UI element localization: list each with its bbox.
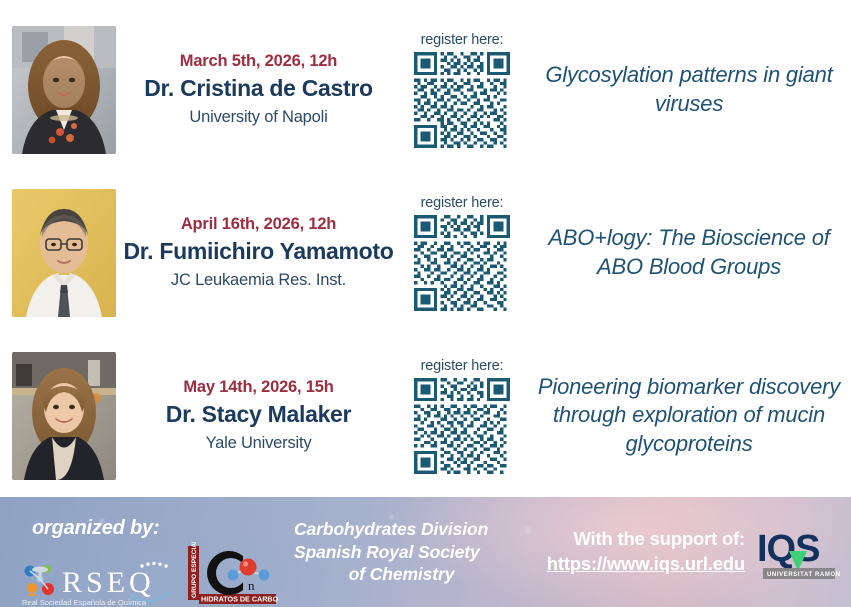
seminar-poster: March 5th, 2026, 12h Dr. Cristina de Cas…: [0, 0, 851, 607]
register-here-label: register here:: [421, 358, 504, 374]
division-line-2: Spanish Royal Society: [286, 541, 501, 563]
speaker-date: May 14th, 2026, 15h: [122, 377, 395, 398]
talk-title: Pioneering biomarker discovery through e…: [523, 373, 851, 459]
svg-text:HIDRATOS DE CARBONO: HIDRATOS DE CARBONO: [201, 595, 278, 604]
organizer-logos: RSEQ Real Sociedad Española de Química G…: [20, 542, 290, 607]
speaker-info: March 5th, 2026, 12h Dr. Cristina de Cas…: [116, 51, 401, 128]
speaker-name: Dr. Cristina de Castro: [122, 75, 395, 102]
speaker-row: March 5th, 2026, 12h Dr. Cristina de Cas…: [0, 8, 851, 171]
speaker-name: Dr. Stacy Malaker: [122, 401, 395, 428]
organizers-section: organized by: RSEQ: [0, 497, 290, 607]
speaker-info: April 16th, 2026, 12h Dr. Fumiichiro Yam…: [116, 214, 401, 291]
speaker-row: May 14th, 2026, 15h Dr. Stacy Malaker Ya…: [0, 334, 851, 497]
division-line-1: Carbohydrates Division: [286, 518, 501, 540]
svg-text:RSEQ: RSEQ: [62, 566, 155, 599]
svg-text:GRUPO ESPECIALIZADO: GRUPO ESPECIALIZADO: [191, 542, 198, 598]
support-label: With the support of:: [573, 528, 745, 549]
carbohydrates-group-logo: GRUPO ESPECIALIZADO HIDRATOS DE CARBONO …: [186, 542, 278, 607]
speaker-row: April 16th, 2026, 12h Dr. Fumiichiro Yam…: [0, 171, 851, 334]
speaker-date: March 5th, 2026, 12h: [122, 51, 395, 72]
organized-by-label: organized by:: [32, 517, 290, 540]
rseq-logo: RSEQ Real Sociedad Española de Química: [20, 558, 180, 607]
iqs-url-link[interactable]: https://www.iqs.url.edu: [547, 552, 745, 577]
speaker-date: April 16th, 2026, 12h: [122, 214, 395, 235]
support-section: With the support of: https://www.iqs.url…: [501, 521, 851, 583]
speaker-info: May 14th, 2026, 15h Dr. Stacy Malaker Ya…: [116, 377, 401, 454]
speaker-affiliation: University of Napoli: [122, 107, 395, 128]
svg-text:Real Sociedad Española de Quím: Real Sociedad Española de Química: [22, 598, 147, 607]
registration-block[interactable]: register here:: [401, 32, 523, 148]
svg-text:UNIVERSITAT RAMON LLULL: UNIVERSITAT RAMON LLULL: [767, 572, 843, 578]
qr-code-icon[interactable]: [414, 378, 510, 474]
registration-block[interactable]: register here:: [401, 195, 523, 311]
register-here-label: register here:: [421, 32, 504, 48]
speaker-photo-cristina-de-castro: [12, 26, 116, 154]
qr-code-icon[interactable]: [414, 52, 510, 148]
register-here-label: register here:: [421, 195, 504, 211]
speaker-affiliation: JC Leukaemia Res. Inst.: [122, 270, 395, 291]
poster-footer: organized by: RSEQ: [0, 497, 851, 607]
qr-code-icon[interactable]: [414, 215, 510, 311]
talk-title: ABO+logy: The Bioscience of ABO Blood Gr…: [523, 224, 851, 281]
division-line-3: of Chemistry: [286, 563, 501, 585]
support-text-block: With the support of: https://www.iqs.url…: [547, 527, 745, 577]
registration-block[interactable]: register here:: [401, 358, 523, 474]
svg-text:n: n: [248, 578, 255, 593]
speaker-affiliation: Yale University: [122, 433, 395, 454]
iqs-logo: IQS UNIVERSITAT RAMON LLULL: [755, 521, 843, 583]
speaker-name: Dr. Fumiichiro Yamamoto: [122, 238, 395, 265]
svg-text:IQS: IQS: [757, 528, 819, 570]
speaker-list: March 5th, 2026, 12h Dr. Cristina de Cas…: [0, 0, 851, 497]
speaker-photo-fumiichiro-yamamoto: [12, 189, 116, 317]
division-name: Carbohydrates Division Spanish Royal Soc…: [286, 518, 501, 585]
speaker-photo-stacy-malaker: [12, 352, 116, 480]
talk-title: Glycosylation patterns in giant viruses: [523, 61, 851, 118]
